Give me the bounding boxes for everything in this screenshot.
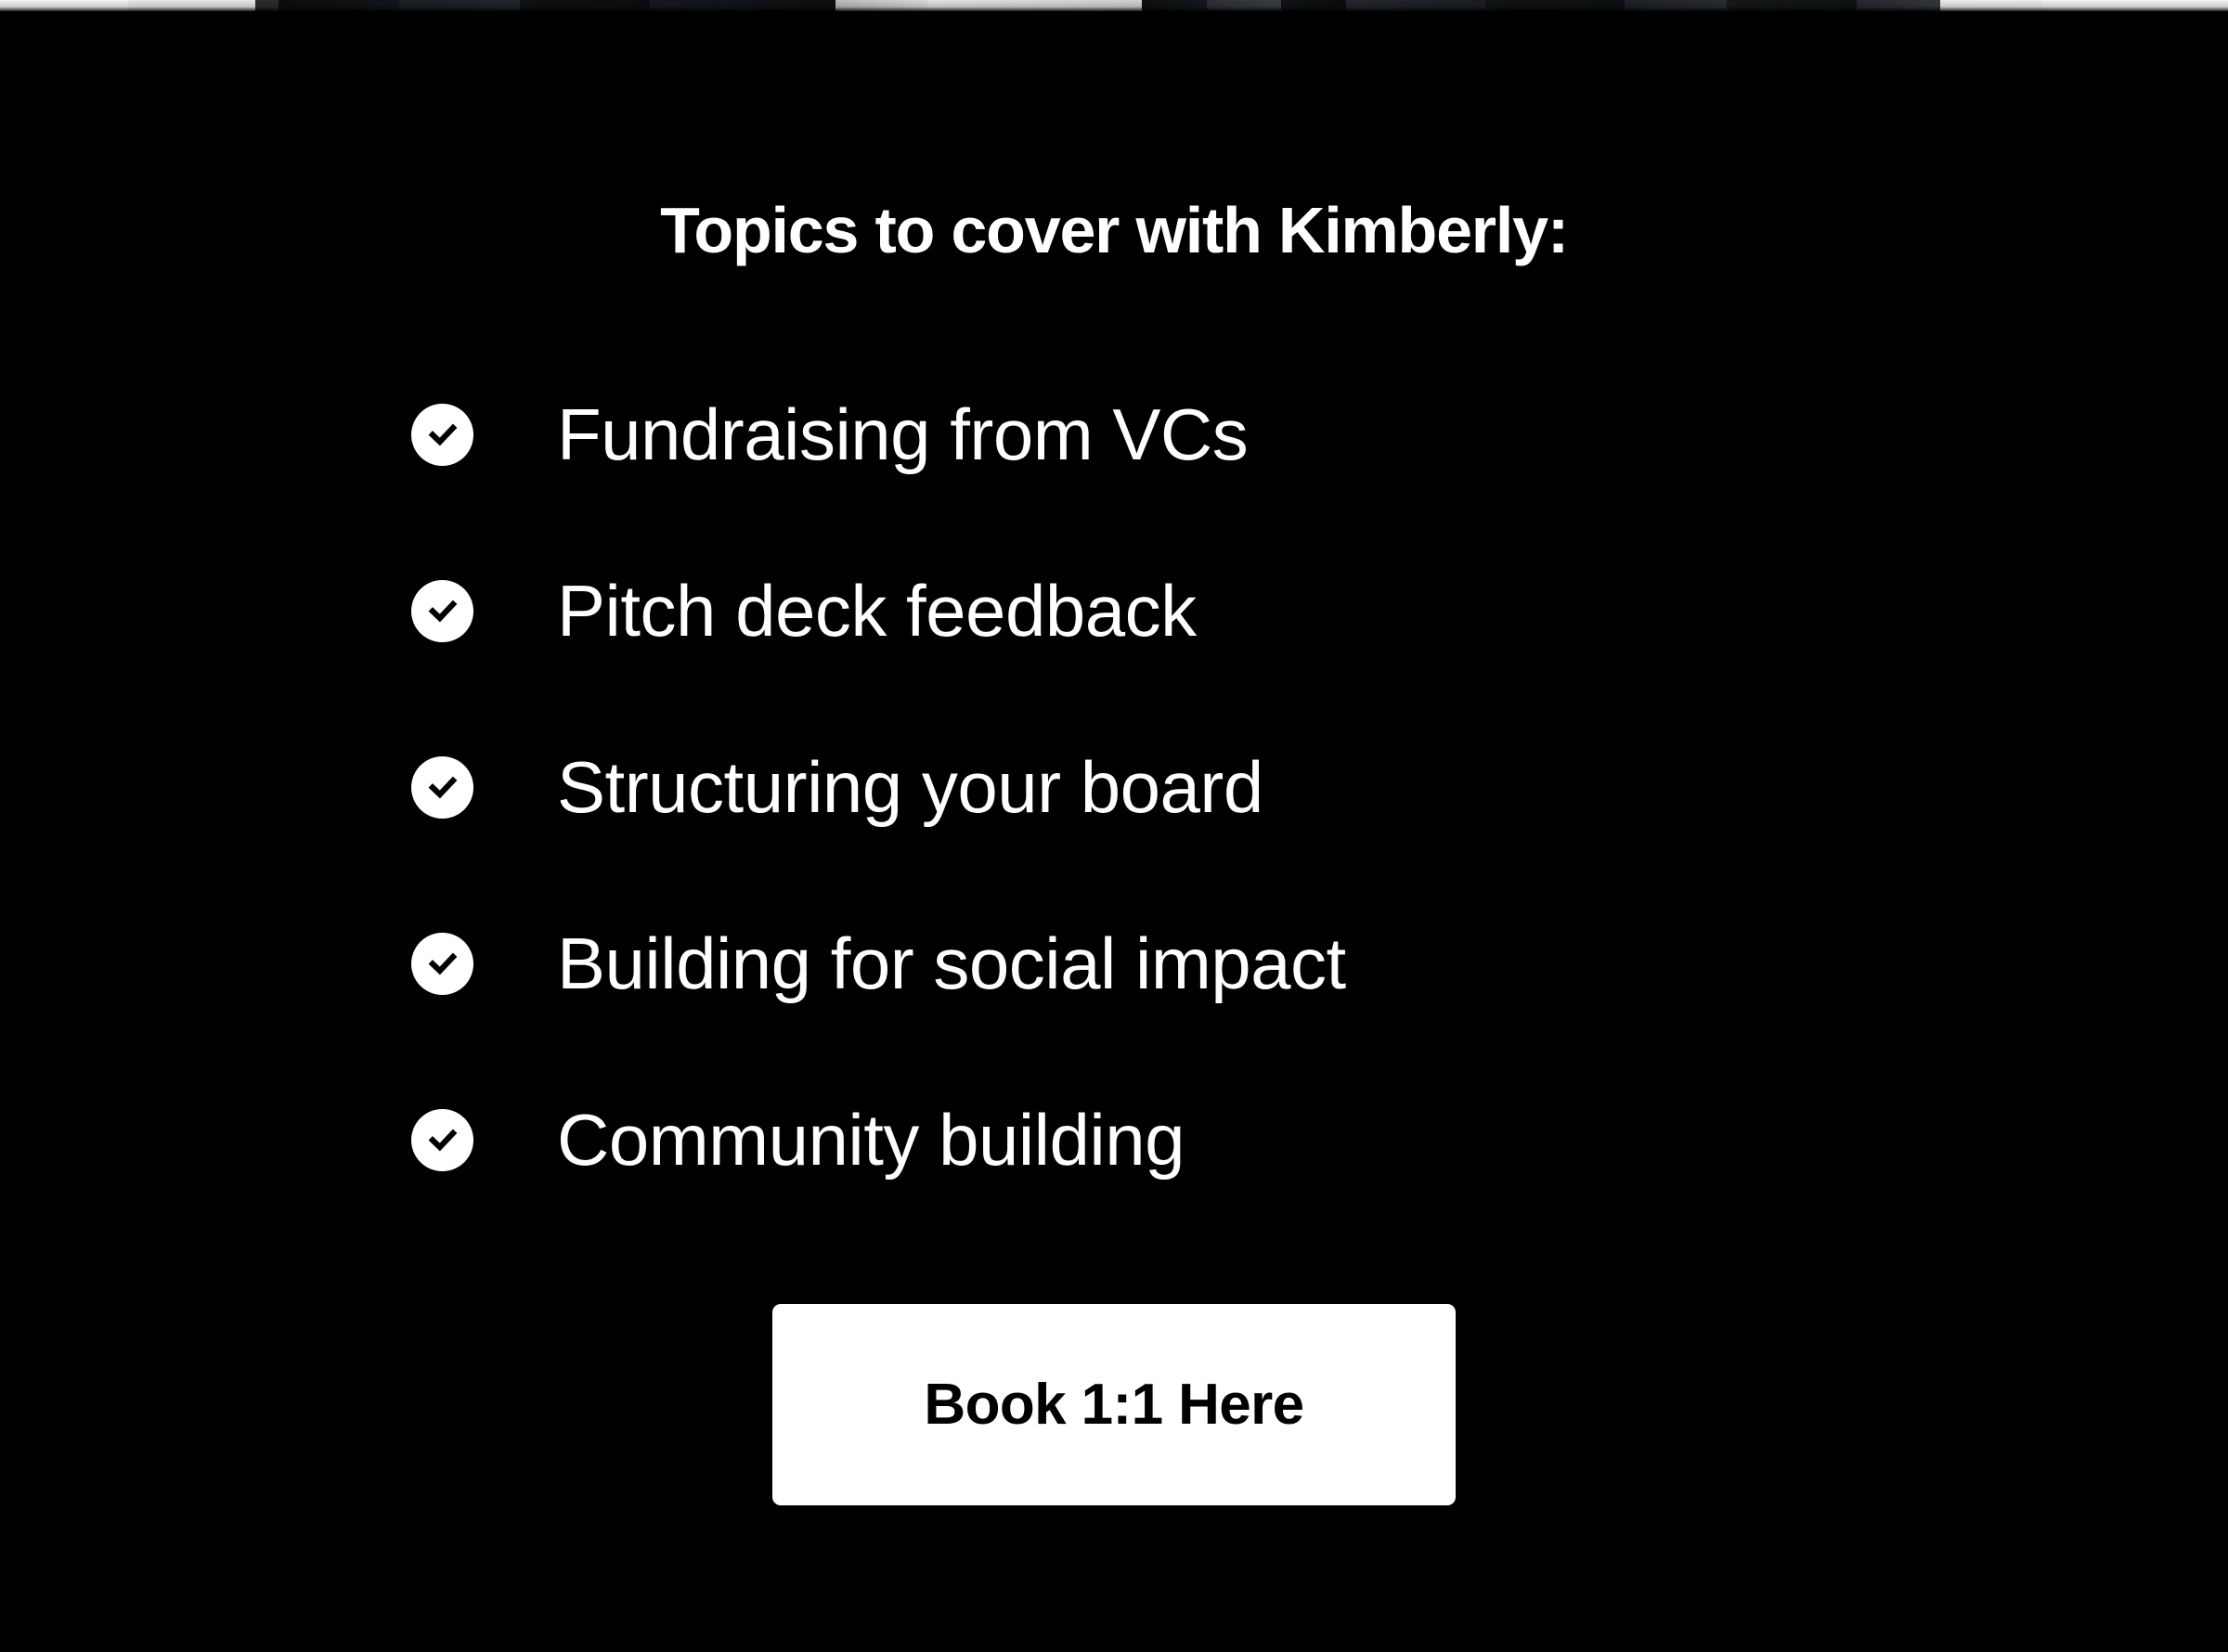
- photo-strip-shade: [0, 0, 2228, 11]
- check-circle-icon: [411, 1109, 473, 1171]
- page-title: Topics to cover with Kimberly:: [0, 198, 2228, 263]
- cta-container: Book 1:1 Here: [0, 1304, 2228, 1505]
- book-one-on-one-button[interactable]: Book 1:1 Here: [772, 1304, 1456, 1505]
- list-item: Fundraising from VCs: [411, 390, 1804, 479]
- check-circle-icon: [411, 933, 473, 995]
- topics-list: Fundraising from VCs Pitch deck feedback…: [411, 390, 1804, 1271]
- list-item: Pitch deck feedback: [411, 566, 1804, 655]
- list-item-label: Pitch deck feedback: [557, 574, 1197, 647]
- list-item-label: Fundraising from VCs: [557, 398, 1248, 471]
- check-circle-icon: [411, 404, 473, 466]
- list-item-label: Structuring your board: [557, 751, 1263, 823]
- photo-strip: [0, 0, 2228, 11]
- check-circle-icon: [411, 756, 473, 819]
- list-item-label: Community building: [557, 1103, 1185, 1176]
- topics-panel: Topics to cover with Kimberly: Fundraisi…: [0, 0, 2228, 1652]
- list-item-label: Building for social impact: [557, 927, 1346, 1000]
- list-item: Community building: [411, 1095, 1804, 1184]
- list-item: Structuring your board: [411, 742, 1804, 832]
- check-circle-icon: [411, 580, 473, 642]
- list-item: Building for social impact: [411, 919, 1804, 1008]
